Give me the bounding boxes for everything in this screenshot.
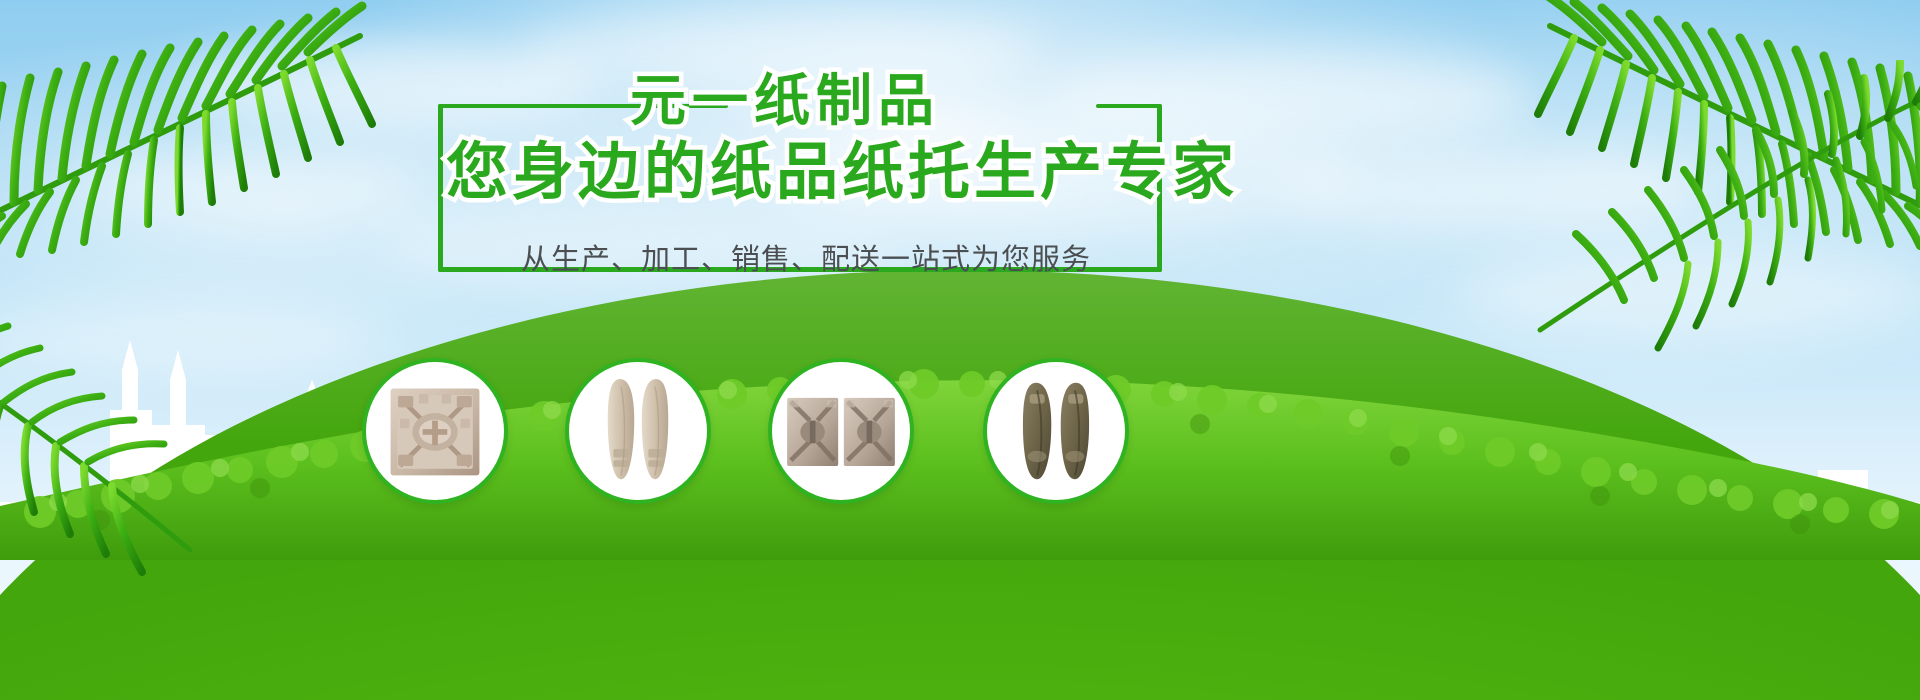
palm-frond-icon — [1510, 0, 1920, 260]
promo-banner: 元一纸制品 您身边的纸品纸托生产专家 从生产、加工、销售、配送一站式为您服务 — [0, 0, 1920, 700]
headline-line-2: 您身边的纸品纸托生产专家 — [446, 132, 1238, 214]
product-circle-square-pulp-tray[interactable] — [362, 358, 508, 504]
headline-line-1: 元一纸制品 — [630, 66, 940, 136]
pulp-corner-protectors-icon — [772, 362, 910, 500]
product-circle-paper-pulp-shoe-trees[interactable] — [565, 358, 711, 504]
hill-highlight — [0, 270, 1920, 700]
cloud-decor — [0, 300, 380, 380]
palm-frond-icon — [0, 0, 400, 270]
frame-border-left — [438, 104, 443, 272]
cloud-decor — [60, 150, 420, 220]
palm-frond-icon — [1520, 60, 1920, 360]
square-pulp-tray-icon — [366, 362, 504, 500]
paper-pulp-shoe-trees-icon — [569, 362, 707, 500]
cloud-decor — [1280, 150, 1700, 230]
molded-pulp-shoe-forms-icon — [987, 362, 1125, 500]
banner-subtitle: 从生产、加工、销售、配送一站式为您服务 — [486, 236, 1126, 278]
product-circle-pulp-corner-protectors[interactable] — [768, 358, 914, 504]
product-circle-molded-pulp-shoe-forms[interactable] — [983, 358, 1129, 504]
cloud-decor — [1460, 250, 1920, 340]
frame-border-top-right — [1096, 104, 1162, 108]
